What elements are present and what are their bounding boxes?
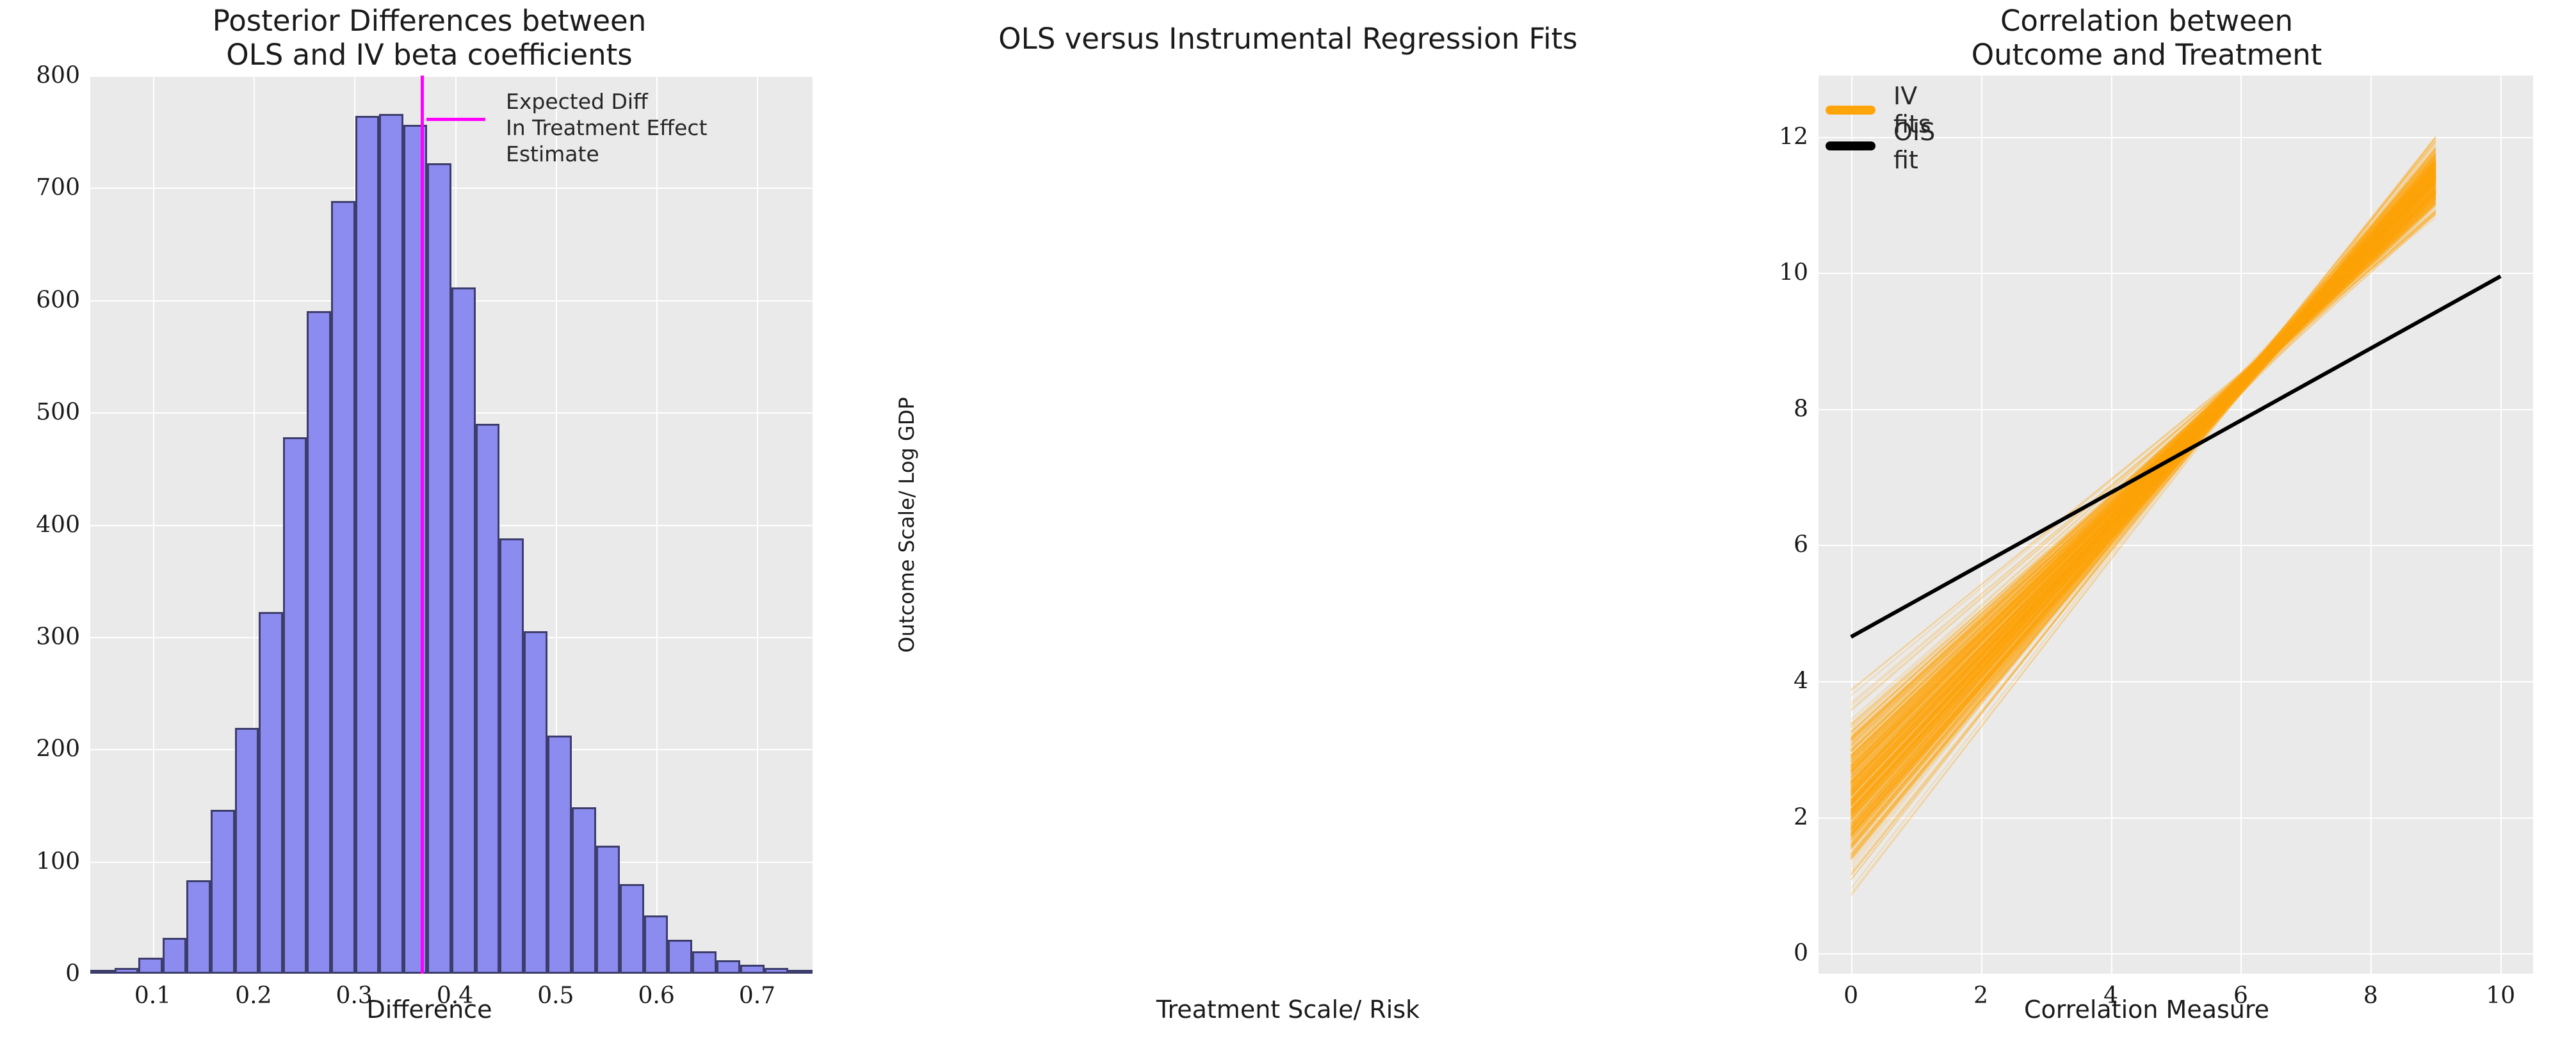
histogram-bar [163,938,187,974]
panel-1-legend[interactable]: Expected Diff In Treatment Effect Estima… [426,88,708,167]
histogram-bar [499,538,524,974]
y-tick-label: 400 [36,511,80,538]
y-tick-label: 100 [36,848,80,874]
histogram-bar [379,114,403,974]
histogram-bar [620,884,644,974]
expected-diff-vline [421,76,424,974]
histogram-bar [283,437,307,974]
y-tick-label: 800 [36,63,80,89]
histogram-bar [524,631,548,974]
histogram-bar [90,970,115,974]
histogram-bar [596,846,620,974]
histogram-bar [788,970,813,974]
panel-2-xlabel: Treatment Scale/ Risk [859,995,1717,1024]
histogram-bar [235,728,259,974]
histogram-bar [307,311,331,974]
histogram-bar [211,810,235,974]
y-tick-label: 700 [36,175,80,201]
panel-ols-vs-iv-fits: OLS versus Instrumental Regression Fits … [859,0,1717,1039]
gridline-horizontal [90,974,813,975]
histogram-bar [403,125,428,974]
histogram-bar [740,965,765,974]
histogram-bar [547,736,572,974]
histogram-bar [717,960,741,974]
y-tick-label: 300 [36,624,80,650]
panel-posterior-differences: Posterior Differences between OLS and IV… [0,0,859,1039]
y-tick-label: 600 [36,287,80,313]
histogram-bar [186,880,211,974]
panel-1-title: Posterior Differences between OLS and IV… [0,4,859,72]
panel-2-title: OLS versus Instrumental Regression Fits [859,22,1717,56]
histogram-bar [572,807,596,974]
histogram-bar [138,958,163,974]
expected-diff-line-swatch [426,118,485,121]
y-tick-label: 200 [36,736,80,762]
histogram-bar [692,951,717,974]
histogram-bar [644,915,668,974]
histogram-bar [476,424,500,974]
panel-1-bars [90,76,813,974]
histogram-bar [451,287,476,974]
histogram-bar [765,968,789,974]
histogram-bar [355,116,380,974]
expected-diff-legend-label: Expected Diff In Treatment Effect Estima… [506,88,708,167]
y-tick-label: 500 [36,399,80,426]
panel-1-axes: 0100200300400500600700800 0.10.20.30.40.… [90,76,813,974]
panel-3-xlabel: Correlation Measure [1717,995,2576,1024]
histogram-bar [427,163,451,974]
panel-2-ylabel: Outcome Scale/ Log GDP [895,397,919,652]
panel-1-xlabel: Difference [0,995,859,1024]
y-tick-label: 0 [65,961,80,987]
histogram-bar [259,612,283,974]
panel-correlation: Correlation between Outcome and Treatmen… [1717,0,2576,1039]
panel-3-title: Correlation between Outcome and Treatmen… [1717,4,2576,72]
three-panel-figure: Posterior Differences between OLS and IV… [0,0,2576,1039]
histogram-bar [668,940,692,974]
histogram-bar [115,968,139,974]
histogram-bar [331,201,355,974]
